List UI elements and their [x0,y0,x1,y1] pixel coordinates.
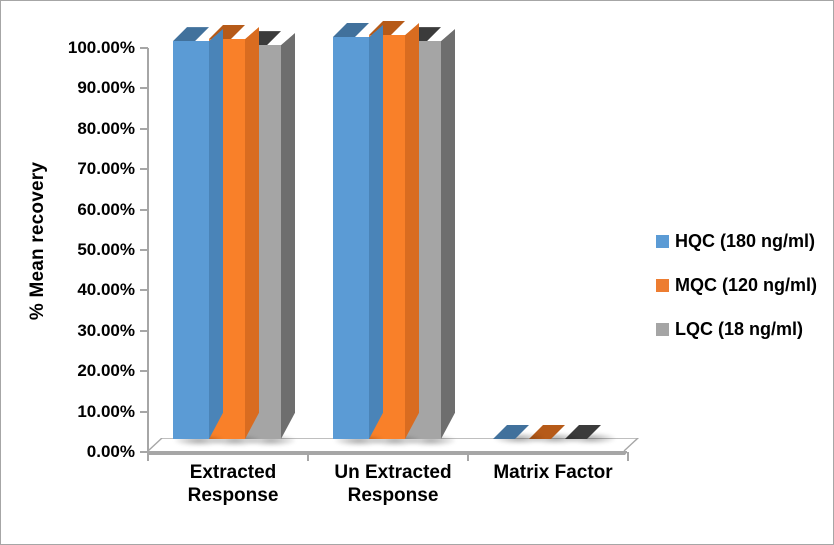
bar-side-face [405,23,419,439]
legend-label: HQC (180 ng/ml) [675,231,815,252]
y-axis-tick-label: 30.00% [77,321,135,341]
chart-legend: HQC (180 ng/ml)MQC (120 ng/ml)LQC (18 ng… [656,219,831,351]
bar-top-face [173,27,209,41]
y-axis-title: % Mean recovery [23,121,53,361]
y-axis-tick-label: 40.00% [77,280,135,300]
x-axis-tick-mark [467,452,469,461]
x-axis-category-label-line: Un Extracted [308,461,478,484]
bar-side-face [281,33,295,439]
y-axis-tick-label: 90.00% [77,78,135,98]
bar[interactable] [173,41,209,439]
legend-label: MQC (120 ng/ml) [675,275,817,296]
y-axis-tick-label: 20.00% [77,361,135,381]
x-axis-category-label-line: Extracted [148,461,318,484]
legend-swatch-icon [656,279,669,292]
bar-group [173,41,281,439]
x-axis-category-label: Matrix Factor [468,461,638,484]
plot-area [147,41,639,453]
x-axis-category-label: ExtractedResponse [148,461,318,507]
bar-top-face [333,23,369,37]
chart-container: % Mean recovery 0.00%10.00%20.00%30.00%4… [0,0,834,545]
legend-item[interactable]: MQC (120 ng/ml) [656,263,831,307]
x-axis-tick-mark [627,452,629,461]
x-axis-category-labels: ExtractedResponseUn ExtractedResponseMat… [147,461,639,521]
bar-front-face [173,41,209,439]
bar-side-face [245,27,259,439]
bar-group [493,41,601,439]
bar-group [333,41,441,439]
x-axis-tick-mark [307,452,309,461]
legend-item[interactable]: LQC (18 ng/ml) [656,307,831,351]
bar-front-face [333,37,369,439]
legend-item[interactable]: HQC (180 ng/ml) [656,219,831,263]
legend-swatch-icon [656,235,669,248]
bar-side-face [441,29,455,439]
y-axis-tick-labels: 0.00%10.00%20.00%30.00%40.00%50.00%60.00… [53,1,141,545]
x-axis-category-label-line: Matrix Factor [468,461,638,484]
x-axis-category-label: Un ExtractedResponse [308,461,478,507]
bar-side-face [209,29,223,439]
bar[interactable] [333,37,369,439]
y-axis-tick-label: 70.00% [77,159,135,179]
y-axis-tick-label: 50.00% [77,240,135,260]
y-axis-tick-label: 60.00% [77,200,135,220]
x-axis-category-label-line: Response [308,484,478,507]
y-axis-tick-label: 0.00% [87,442,135,462]
y-axis-tick-label: 100.00% [68,38,135,58]
y-axis-tick-label: 10.00% [77,402,135,422]
x-axis-tick-mark [147,452,149,461]
y-axis-tick-label: 80.00% [77,119,135,139]
legend-swatch-icon [656,323,669,336]
bar-side-face [369,25,383,439]
y-axis-title-text: % Mean recovery [27,162,49,320]
legend-label: LQC (18 ng/ml) [675,319,803,340]
x-axis-category-label-line: Response [148,484,318,507]
